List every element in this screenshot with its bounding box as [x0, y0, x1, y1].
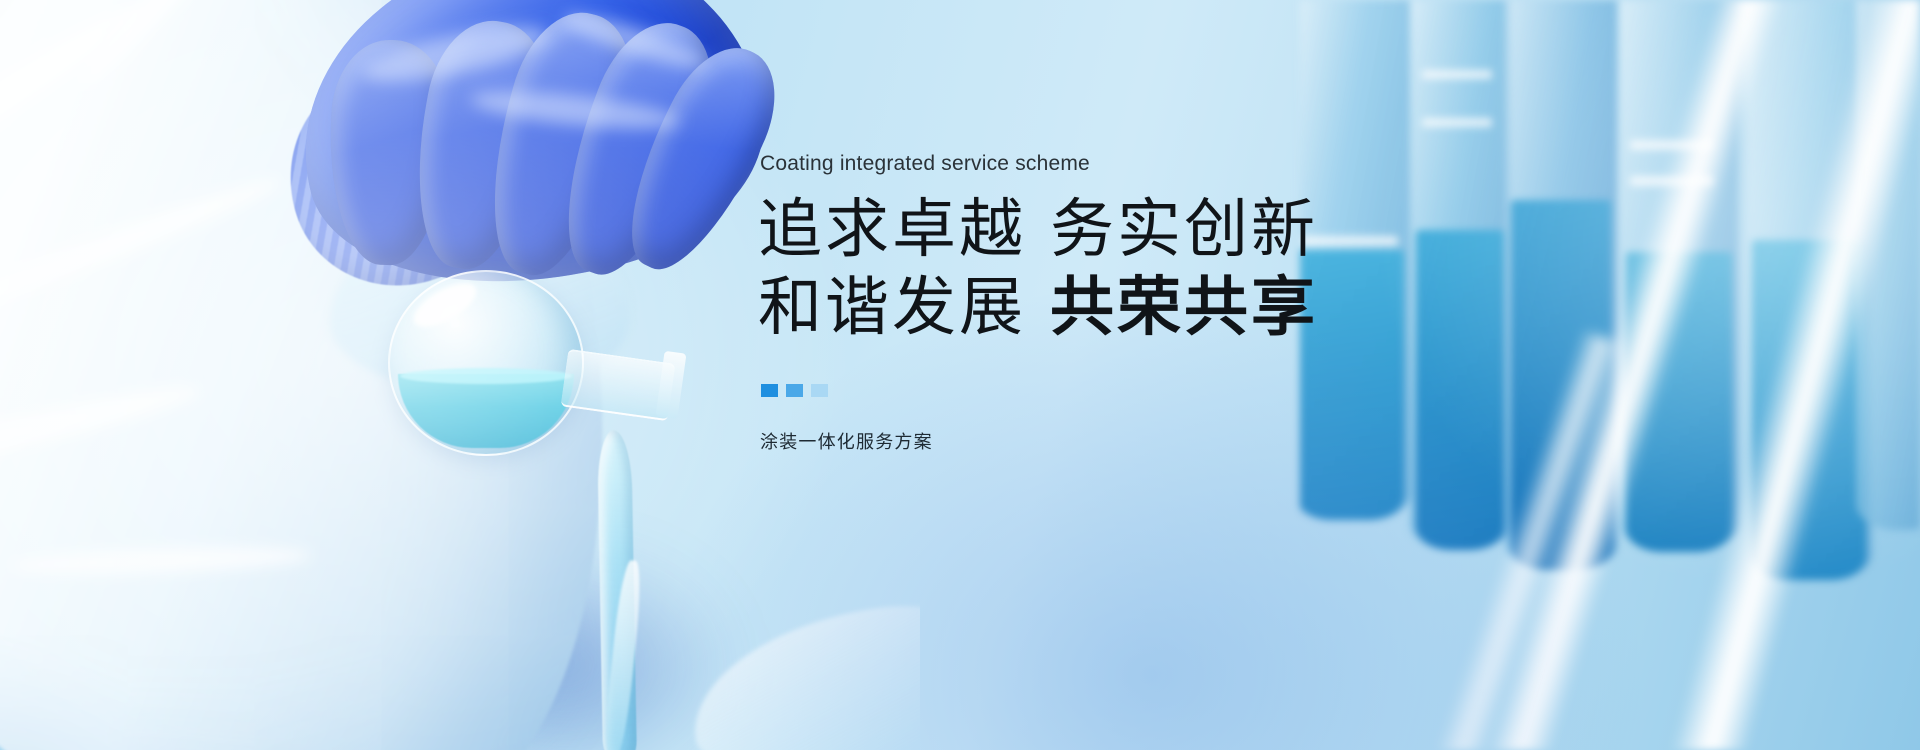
carousel-dot-2[interactable] — [786, 384, 803, 397]
headline-line-1-part-a: 追求卓越 — [758, 196, 1026, 264]
banner-eyebrow: Coating integrated service scheme — [760, 152, 1090, 176]
carousel-dot-1[interactable] — [761, 384, 778, 397]
banner-caption: 涂装一体化服务方案 — [760, 428, 933, 454]
hero-banner: Coating integrated service scheme 追求卓越 务… — [0, 0, 1920, 750]
carousel-dot-3[interactable] — [811, 384, 828, 397]
banner-headline: 追求卓越 务实创新 和谐发展 共荣共享 — [758, 196, 1458, 342]
banner-content: Coating integrated service scheme 追求卓越 务… — [760, 0, 1400, 750]
round-bottom-flask — [388, 256, 616, 456]
headline-line-1: 追求卓越 务实创新 — [758, 196, 1458, 264]
headline-line-2: 和谐发展 共荣共享 — [758, 274, 1458, 342]
headline-line-2-part-b: 共荣共享 — [1050, 274, 1318, 342]
headline-line-1-part-b: 务实创新 — [1050, 196, 1318, 264]
headline-line-2-part-a: 和谐发展 — [758, 274, 1026, 342]
carousel-indicator[interactable] — [761, 384, 828, 397]
